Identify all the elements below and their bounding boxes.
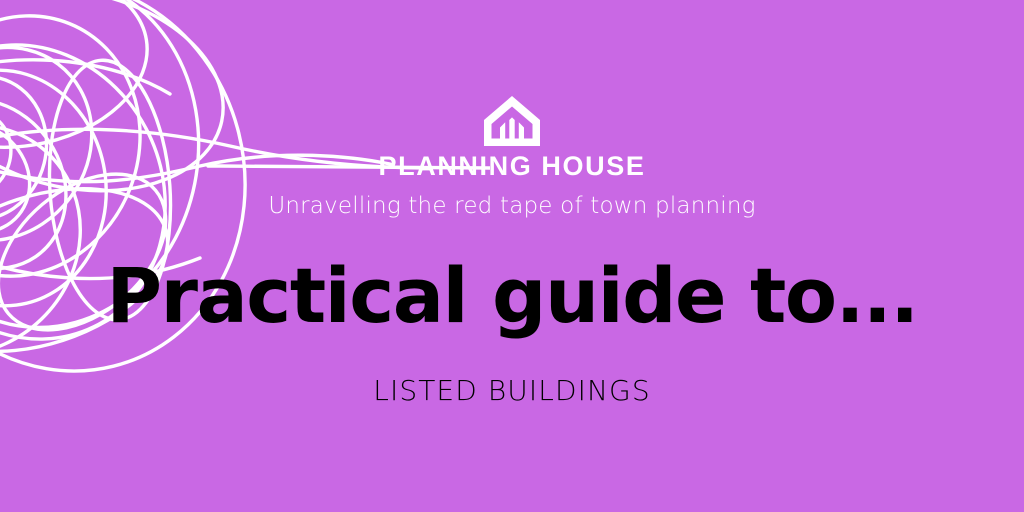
brand-tagline: Unravelling the red tape of town plannin… [0, 193, 1024, 221]
brand-lockup: PLANNING HOUSE [0, 96, 1024, 180]
house-outline-icon [484, 96, 540, 146]
promo-banner: PLANNING HOUSE Unravelling the red tape … [0, 0, 1024, 512]
logo-mark [0, 96, 1024, 146]
brand-name: PLANNING HOUSE [0, 153, 1024, 180]
subtitle: LISTED BUILDINGS [0, 377, 1024, 405]
headline: Practical guide to... [0, 258, 1024, 334]
